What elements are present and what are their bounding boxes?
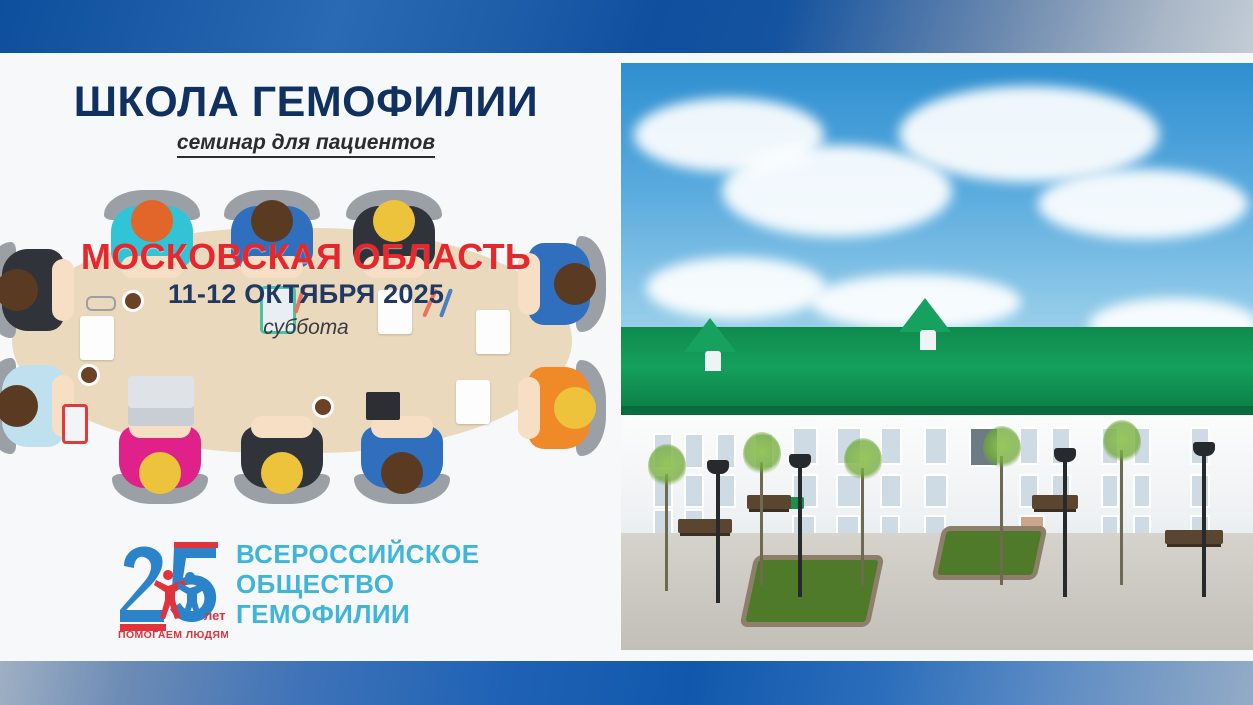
poster-panel: ШКОЛА ГЕМОФИЛИИ семинар для пациентов — [0, 53, 612, 661]
dormer-window — [705, 351, 721, 371]
window — [684, 433, 704, 469]
cloud — [646, 257, 826, 319]
young-tree — [760, 462, 763, 585]
window — [880, 474, 902, 508]
street-lamp — [1063, 462, 1067, 597]
video-frame: ШКОЛА ГЕМОФИЛИИ семинар для пациентов — [0, 0, 1253, 705]
poster-subtitle-text: семинар для пациентов — [177, 131, 435, 158]
bench — [1165, 530, 1223, 544]
street-lamp — [716, 474, 720, 603]
bench — [678, 519, 732, 533]
dormer-window — [920, 330, 936, 350]
window — [924, 427, 948, 465]
street-lamp — [798, 468, 802, 597]
phone-icon — [62, 404, 88, 444]
anniversary-unit-label: лет — [204, 608, 226, 623]
head — [554, 387, 596, 429]
young-tree — [1000, 456, 1003, 585]
window — [924, 474, 948, 508]
window — [1101, 474, 1119, 508]
org-line-2: ОБЩЕСТВО — [236, 569, 479, 599]
event-region: МОСКОВСКАЯ ОБЛАСТЬ — [0, 238, 612, 276]
anniversary-25-logo-icon: лет ПОМОГАЕМ ЛЮДЯМ — [112, 536, 228, 641]
venue-photograph — [621, 63, 1253, 650]
event-details: МОСКОВСКАЯ ОБЛАСТЬ 11-12 ОКТЯБРЯ 2025 су… — [0, 238, 612, 340]
organization-name: ВСЕРОССИЙСКОЕ ОБЩЕСТВО ГЕМОФИЛИИ — [236, 539, 479, 629]
organization-logo-lockup: лет ПОМОГАЕМ ЛЮДЯМ ВСЕРОССИЙСКОЕ ОБЩЕСТВ… — [112, 536, 532, 648]
young-tree — [861, 468, 864, 585]
roof-gable — [684, 318, 736, 352]
page-title: ШКОЛА ГЕМОФИЛИИ — [0, 78, 612, 127]
head — [261, 452, 303, 494]
laptop-icon — [128, 376, 194, 426]
bench — [747, 495, 791, 509]
person-right-2 — [502, 356, 606, 460]
bottom-gradient-band — [0, 661, 1253, 705]
event-weekday: суббота — [0, 316, 612, 340]
poster-subtitle: семинар для пациентов — [0, 131, 612, 155]
paper-sheet — [456, 380, 490, 424]
event-dates: 11-12 ОКТЯБРЯ 2025 — [0, 279, 612, 310]
window — [1019, 427, 1039, 465]
coffee-cup-icon — [78, 364, 100, 386]
window — [684, 474, 704, 508]
young-tree — [665, 474, 668, 591]
slide-card: ШКОЛА ГЕМОФИЛИИ семинар для пациентов — [0, 53, 1253, 661]
photo-content — [621, 63, 1253, 650]
top-gradient-band — [0, 0, 1253, 53]
notebook-icon — [366, 392, 400, 420]
head — [381, 452, 423, 494]
young-tree — [1120, 450, 1123, 585]
cloud — [1038, 169, 1248, 239]
org-line-3: ГЕМОФИЛИИ — [236, 599, 479, 629]
street-lamp — [1202, 456, 1206, 597]
head — [139, 452, 181, 494]
org-line-1: ВСЕРОССИЙСКОЕ — [236, 539, 479, 569]
coffee-cup-icon — [312, 396, 334, 418]
bench — [1032, 495, 1078, 509]
window — [1133, 474, 1151, 508]
logo-tagline: ПОМОГАЕМ ЛЮДЯМ — [118, 629, 228, 641]
flower-bed — [931, 526, 1047, 580]
cloud — [899, 86, 1159, 182]
window — [1190, 474, 1210, 508]
hands — [518, 377, 540, 439]
hands — [251, 416, 313, 438]
roof-gable — [899, 298, 951, 332]
window — [880, 427, 902, 465]
